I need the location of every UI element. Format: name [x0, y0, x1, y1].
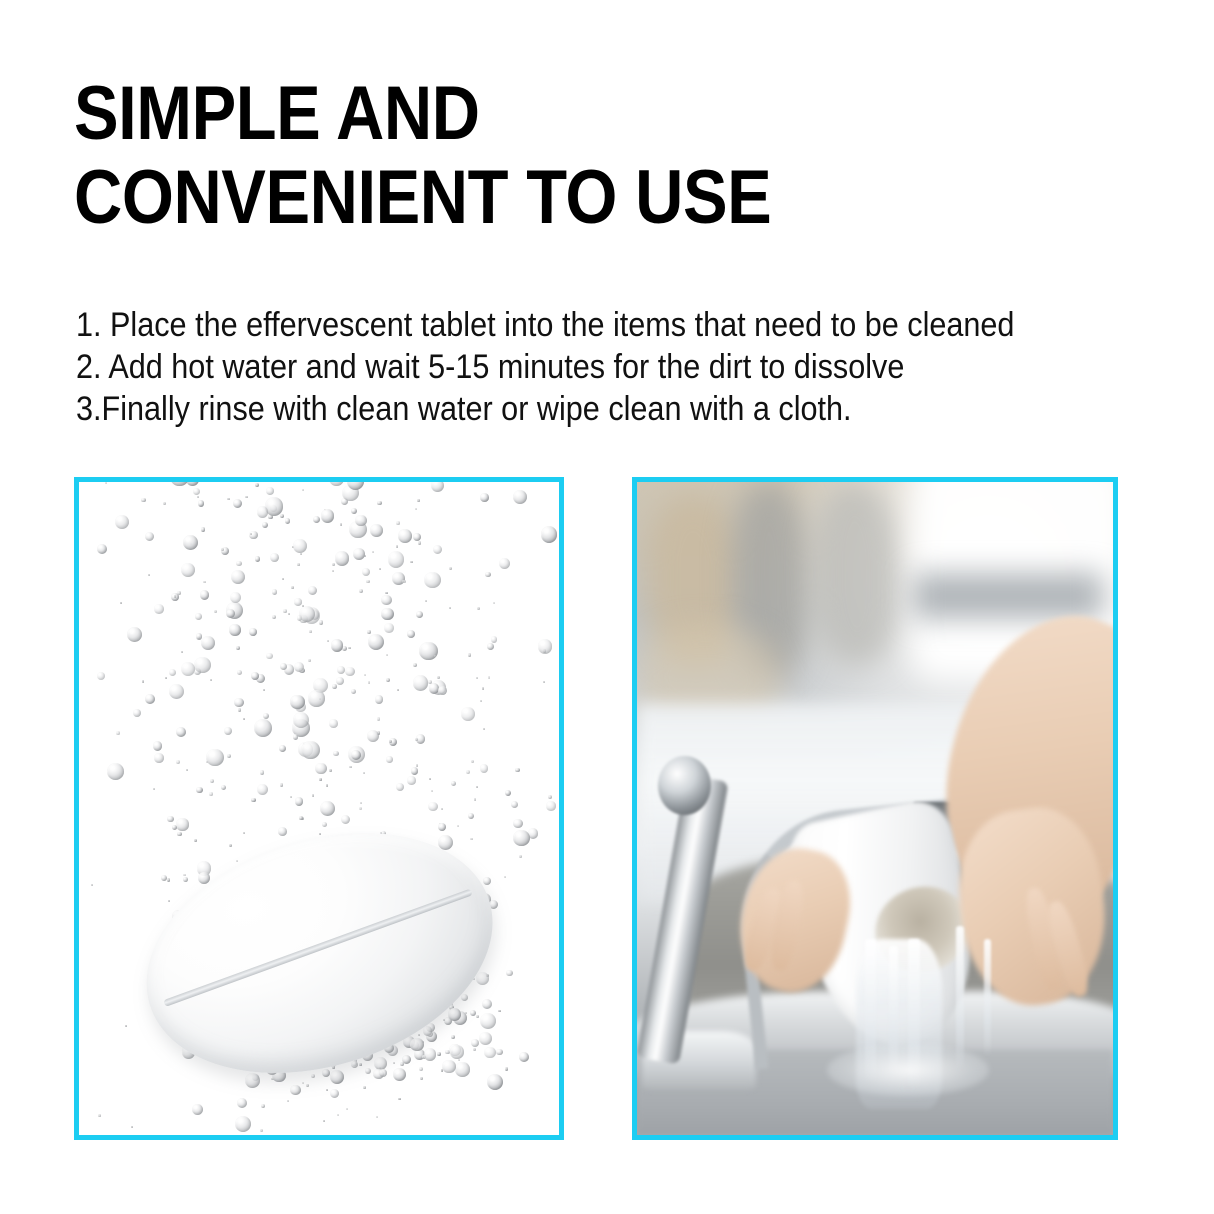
instruction-list: 1. Place the effervescent tablet into th…	[76, 304, 1146, 430]
blurred-shelf	[913, 573, 1103, 619]
instruction-step-3: 3.Finally rinse with clean water or wipe…	[76, 388, 1039, 430]
tablet-face	[117, 793, 522, 1113]
blurred-cabinet-c	[813, 482, 899, 665]
product-image-tablet-fizzing	[74, 477, 564, 1140]
water-stream-4	[956, 926, 964, 1070]
image-panel-group	[74, 477, 1118, 1140]
effervescent-tablet	[117, 809, 530, 1122]
product-infographic-page: SIMPLE AND CONVENIENT TO USE 1. Place th…	[0, 0, 1214, 1214]
instruction-step-2: 2. Add hot water and wait 5-15 minutes f…	[76, 346, 1039, 388]
page-title: SIMPLE AND CONVENIENT TO USE	[74, 72, 1134, 240]
headline-line-1: SIMPLE AND	[74, 72, 1007, 156]
instruction-step-1: 1. Place the effervescent tablet into th…	[76, 304, 1039, 346]
tablet-photo	[79, 482, 559, 1135]
product-image-rinsing-mug	[632, 477, 1118, 1140]
faucet-knob-icon	[658, 756, 710, 815]
kitchen-photo	[637, 482, 1113, 1135]
water-splash	[827, 1044, 989, 1096]
water-stream-5	[984, 939, 991, 1057]
headline-line-2: CONVENIENT TO USE	[74, 156, 1007, 240]
